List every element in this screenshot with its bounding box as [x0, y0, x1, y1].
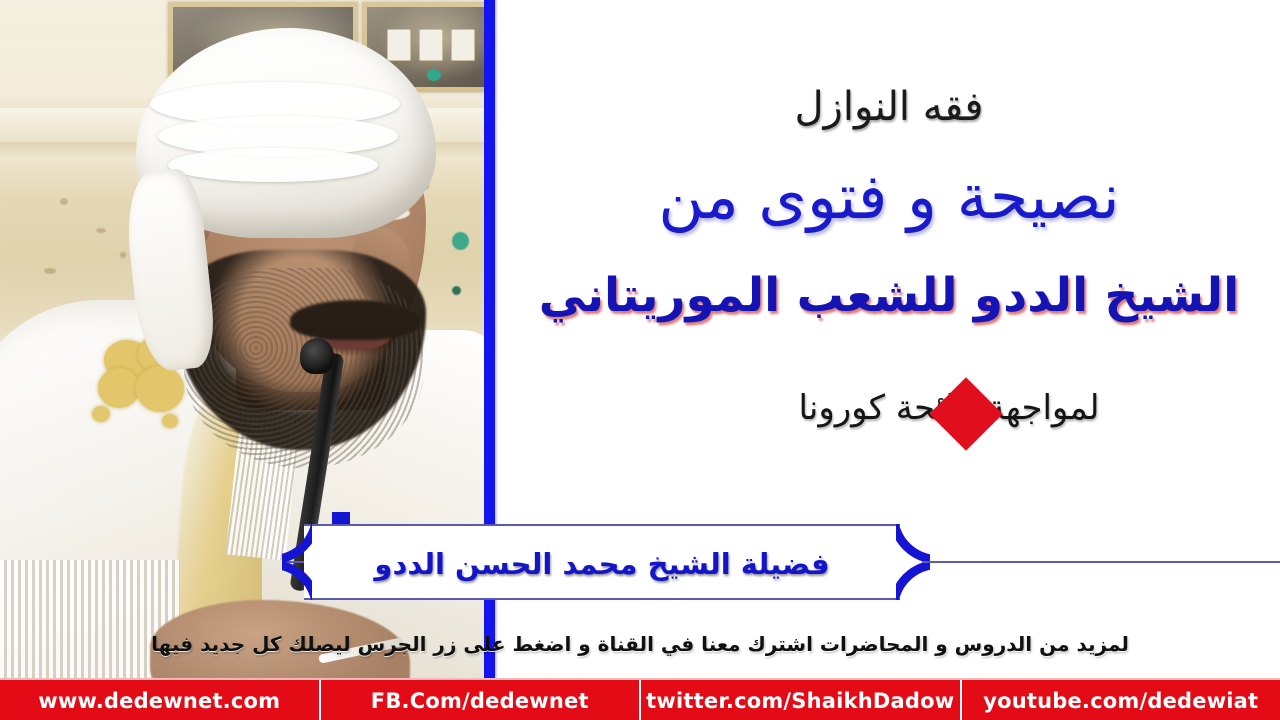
headline-main: نصيحة و فتوى من [498, 160, 1280, 233]
wall-switch [419, 29, 443, 61]
banner-curve-left [282, 524, 312, 600]
subscribe-call-to-action: لمزيد من الدروس و المحاضرات اشترك معنا ف… [0, 626, 1280, 662]
link-website[interactable]: www.dedewnet.com [0, 680, 321, 720]
embroidery-petal [136, 366, 184, 412]
green-dot-small [452, 286, 461, 295]
embroidery-dot [162, 414, 178, 428]
social-links-bar: www.dedewnet.com FB.Com/dedewnet twitter… [0, 678, 1280, 720]
headline-bold: الشيخ الددو للشعب الموريتاني [498, 268, 1280, 323]
wall-speck [96, 228, 106, 233]
banner-tail-right [922, 561, 1280, 563]
embroidery-petal [98, 368, 140, 408]
link-facebook[interactable]: FB.Com/dedewnet [321, 680, 642, 720]
wall-speck [120, 252, 126, 258]
speaker-name-banner: فضيلة الشيخ محمد الحسن الددو [282, 524, 1280, 600]
green-dot [452, 232, 469, 250]
embroidery-dot [92, 406, 110, 422]
link-twitter[interactable]: twitter.com/ShaikhDadow [641, 680, 962, 720]
banner-body: فضيلة الشيخ محمد الحسن الددو [304, 524, 900, 600]
turban-fold [168, 148, 378, 182]
speaker-name-label: فضيلة الشيخ محمد الحسن الددو [304, 526, 900, 602]
wall-speck [44, 268, 56, 274]
poster-canvas: فقه النوازل نصيحة و فتوى من الشيخ الددو … [0, 0, 1280, 720]
wall-switch [387, 29, 411, 61]
green-dot [427, 69, 441, 81]
microphone-head [300, 338, 334, 374]
headline-subline: لمواجهة جائحة كورونا [498, 388, 1280, 428]
headline-topic: فقه النوازل [498, 84, 1280, 130]
mustache [290, 300, 420, 340]
wall-switch [451, 29, 475, 61]
link-youtube[interactable]: youtube.com/dedewiat [962, 680, 1280, 720]
wall-speck [60, 198, 68, 205]
